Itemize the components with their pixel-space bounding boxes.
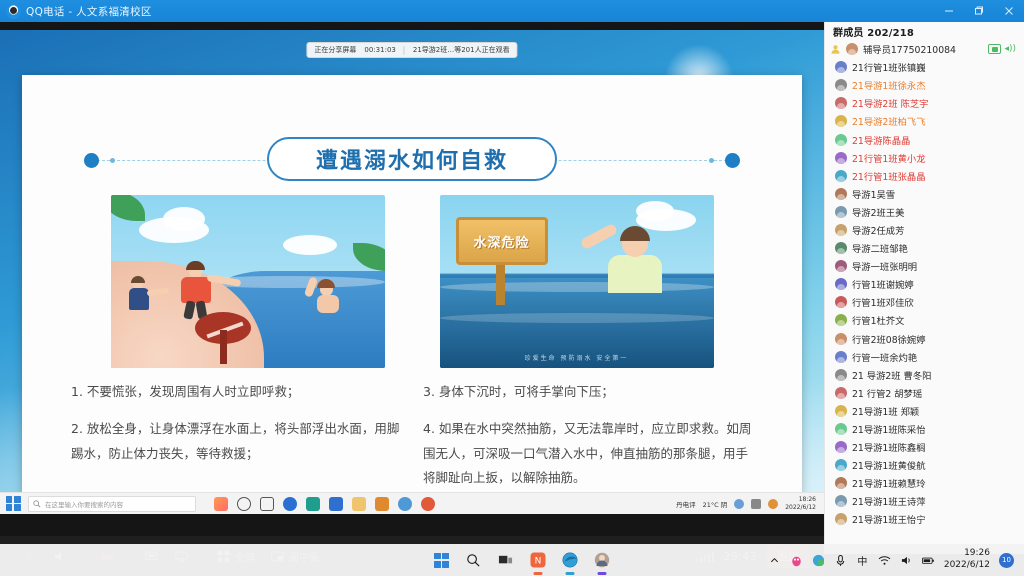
slide-point-3: 3. 身体下沉时，可将手掌向下压； [423,380,753,404]
wifi-icon[interactable] [734,499,744,509]
member-name: 21导游1班王怡宁 [852,512,926,526]
member-list-item[interactable]: 辅导员17750210084◂)) [825,40,1024,58]
member-list-item[interactable]: 行管1杜芥文 [825,311,1024,329]
member-list-item[interactable]: 21导游1班徐永杰 [825,76,1024,94]
illustration-caption: 珍爱生命 预防溺水 安全第一 [440,353,714,362]
member-list-item[interactable]: 导游1吴雪 [825,185,1024,203]
member-list-item[interactable]: 21导游1班赖慧玲 [825,474,1024,492]
member-name: 行管一班余灼艳 [852,350,917,364]
host-crown-icon [829,43,841,55]
avatar [835,314,847,326]
member-name: 21导游1班陈采怡 [852,422,926,436]
browser-icon[interactable] [398,497,412,511]
microphone-icon[interactable] [834,554,847,567]
member-name: 21导游1班黄俊航 [852,458,926,472]
member-name: 21导游1班徐永杰 [852,78,926,92]
slide-images: 水深危险 珍爱生命 预防溺水 安全第一 [22,195,802,368]
member-name: 21导游1班 郑颖 [852,404,919,418]
avatar [835,188,847,200]
avatar [846,43,858,55]
avatar [835,97,847,109]
slide-decor-dot-small-right [709,158,714,163]
member-list-item[interactable]: 21导游2班 陈芝宇 [825,94,1024,112]
avatar [835,206,847,218]
avatar [835,513,847,525]
taskbar-app-group: N [432,551,611,570]
windows-start-icon[interactable] [0,496,26,511]
avatar [835,79,847,91]
avatar [835,495,847,507]
member-name: 21导游1班王诗萍 [852,494,926,508]
clock-date: 2022/6/12 [785,504,816,512]
search-placeholder: 在这里输入你要搜索的内容 [45,499,123,509]
host-windows-taskbar: N 中 [0,544,1024,576]
member-name: 21行管1班张晶晶 [852,169,926,183]
member-name: 导游2班王美 [852,205,904,219]
avatar [835,242,847,254]
minimize-button[interactable] [934,0,964,22]
avatar [835,152,847,164]
member-name: 导游二班邹艳 [852,241,908,255]
office-icon[interactable] [375,497,389,511]
warning-board-text: 水深危险 [473,232,529,251]
danger-sign-illustration: 水深危险 珍爱生命 预防溺水 安全第一 [440,195,714,368]
slide-decor-dot-left [84,153,99,168]
member-list-item[interactable]: 21 行管2 胡梦瑶 [825,384,1024,402]
qq-call-window: QQ电话 - 人文系褔清校区 正在分享屏幕 00:31:03 21导游2班…等2… [0,0,1024,576]
svg-text:N: N [534,557,541,567]
member-list-item[interactable]: 行管1班邓佳欣 [825,293,1024,311]
battery-icon[interactable] [922,554,935,567]
speaking-icon: ◂)) [1004,45,1016,54]
chevron-up-icon[interactable] [768,554,781,567]
shared-taskbar-apps [214,497,435,511]
member-name: 行管1班谢婉婷 [852,277,914,291]
share-duration: 00:31:03 [364,46,395,54]
video-stage: 正在分享屏幕 00:31:03 21导游2班…等201人正在观看 遭遇溺水如何自… [0,22,824,576]
divider [404,46,405,55]
member-list-item[interactable]: 行管一班余灼艳 [825,348,1024,366]
shared-screen-view[interactable]: 正在分享屏幕 00:31:03 21导游2班…等201人正在观看 遭遇溺水如何自… [0,30,824,514]
share-viewers: 21导游2班…等201人正在观看 [413,45,510,55]
slide-point-4: 4. 如果在水中突然抽筋，又无法靠岸时，应立即求救。如周围无人，可深吸一口气潜入… [423,417,753,490]
member-list-item[interactable]: 导游2任成芳 [825,221,1024,239]
member-list-item[interactable]: 21行管1班张晶晶 [825,167,1024,185]
warning-board: 水深危险 [456,217,548,265]
close-button[interactable] [994,0,1024,22]
maximize-button[interactable] [964,0,994,22]
member-list-item[interactable]: 21导游1班黄俊航 [825,456,1024,474]
share-status-label: 正在分享屏幕 [314,45,356,55]
search-icon[interactable] [464,551,483,570]
windows-11-start-icon[interactable] [432,551,451,570]
ime-chinese-icon[interactable]: 中 [856,554,869,567]
member-list[interactable]: 辅导员17750210084◂))21行管1班张镇巍21导游1班徐永杰21导游2… [825,40,1024,529]
sign-post [496,263,505,305]
raised-arm [579,223,618,251]
member-list-item[interactable]: 21导游1班 郑颖 [825,402,1024,420]
qq-penguin-icon[interactable] [790,554,803,567]
avatar [835,369,847,381]
avatar [835,134,847,146]
avatar [835,224,847,236]
clock-time: 18:26 [785,496,816,504]
tray-app-label: 丹电评 [676,499,696,509]
avatar [835,61,847,73]
member-count-header: 群成员 202/218 [825,22,1024,40]
slide-title-container: 遭遇溺水如何自救 [267,137,557,181]
member-list-item[interactable]: 导游一班张明明 [825,257,1024,275]
member-list-item[interactable]: 21行管1班黄小龙 [825,149,1024,167]
beach-rescue-illustration [111,195,385,368]
qq-penguin-icon[interactable] [768,499,778,509]
avatar [835,170,847,182]
avatar [835,296,847,308]
clock[interactable]: 19:26 2022/6/12 [944,548,990,571]
member-name: 21导游1班赖慧玲 [852,476,926,490]
mail-icon[interactable] [306,497,320,511]
weather-status: 21°C 阴 [703,499,728,509]
notification-badge[interactable]: 10 [999,553,1014,568]
share-status-bar: 正在分享屏幕 00:31:03 21导游2班…等201人正在观看 [306,42,517,58]
antivirus-icon[interactable] [812,554,825,567]
qq-penguin-icon [6,4,21,19]
slide-body: 1. 不要慌张，发现周围有人时立即呼救； 2. 放松全身，让身体漂浮在水面上，将… [22,380,802,491]
slide-decor-dot-right [725,153,740,168]
wifi-icon[interactable] [878,554,891,567]
presentation-slide: 遭遇溺水如何自救 [22,75,802,495]
notes-icon[interactable] [352,497,366,511]
avatar [835,405,847,417]
search-input[interactable]: 在这里输入你要搜索的内容 [28,496,196,512]
shared-windows-taskbar: 在这里输入你要搜索的内容 丹电评 21°C 阴 [0,492,824,514]
avatar [835,333,847,345]
avatar [835,115,847,127]
slide-left-column: 1. 不要慌张，发现周围有人时立即呼救； 2. 放松全身，让身体漂浮在水面上，将… [71,380,401,491]
slide-point-1: 1. 不要慌张，发现周围有人时立即呼救； [71,380,401,404]
member-name: 行管2班08徐婉婷 [852,332,926,346]
avatar [835,278,847,290]
member-sidebar[interactable]: 群成员 202/218 辅导员17750210084◂))21行管1班张镇巍21… [824,22,1024,554]
member-list-item[interactable]: 21导游1班陈鑫榈 [825,438,1024,456]
member-name: 辅导员17750210084 [863,42,956,56]
member-name: 导游2任成芳 [852,223,904,237]
volume-icon[interactable] [900,554,913,567]
window-titlebar: QQ电话 - 人文系褔清校区 [0,0,1024,22]
volume-icon[interactable] [751,499,761,509]
member-name: 21行管1班黄小龙 [852,151,926,165]
slide-point-2: 2. 放松全身，让身体漂浮在水面上，将头部浮出水面，用脚踢水，防止体力丧失，等待… [71,417,401,466]
member-name: 21导游2班 陈芝宇 [852,96,928,110]
edge-browser-icon[interactable] [560,551,579,570]
member-name: 导游一班张明明 [852,259,917,273]
store-icon[interactable] [260,497,274,511]
teams-icon[interactable] [283,497,297,511]
cortana-icon[interactable] [237,497,251,511]
slide-decor-dot-small-left [110,158,115,163]
avatar [835,351,847,363]
member-list-item[interactable]: 21导游1班王诗萍 [825,492,1024,510]
task-view-icon[interactable] [214,497,228,511]
member-name: 行管1杜芥文 [852,313,904,327]
member-name: 21行管1班张镇巍 [852,60,926,74]
file-explorer-icon[interactable] [329,497,343,511]
person-body [608,255,662,293]
member-list-item[interactable]: 21导游1班王怡宁 [825,510,1024,528]
member-list-item[interactable]: 21 导游2班 曹冬阳 [825,366,1024,384]
avatar [835,423,847,435]
clock[interactable]: 18:26 2022/6/12 [785,496,816,511]
avatar [835,477,847,489]
member-name: 行管1班邓佳欣 [852,295,914,309]
host-system-tray: 中 19:26 2022/6/12 10 [768,548,1024,571]
member-list-item[interactable]: 导游2班王美 [825,203,1024,221]
member-list-item[interactable]: 21导游2班柏飞飞 [825,112,1024,130]
member-name: 21导游1班陈鑫榈 [852,440,926,454]
member-name: 21 行管2 胡梦瑶 [852,386,922,400]
user-avatar-icon[interactable] [592,551,611,570]
notepad-app-icon[interactable]: N [528,551,547,570]
avatar [835,441,847,453]
member-list-item[interactable]: 21导游陈晶晶 [825,130,1024,148]
clock-time: 19:26 [944,548,990,560]
media-icon[interactable] [421,497,435,511]
shared-taskbar-tray: 丹电评 21°C 阴 18:26 2022/6/12 [676,496,824,511]
member-list-item[interactable]: 行管1班谢婉婷 [825,275,1024,293]
clock-date: 2022/6/12 [944,560,990,572]
slide-right-column: 3. 身体下沉时，可将手掌向下压； 4. 如果在水中突然抽筋，又无法靠岸时，应立… [423,380,753,491]
slide-title: 遭遇溺水如何自救 [316,143,508,175]
member-name: 21 导游2班 曹冬阳 [852,368,931,382]
member-status-tags: ◂)) [988,44,1016,54]
member-name: 21导游陈晶晶 [852,133,910,147]
member-name: 导游1吴雪 [852,187,895,201]
window-controls [934,0,1024,22]
task-view-icon[interactable] [496,551,515,570]
avatar [835,260,847,272]
screen-sharing-icon [988,44,1001,54]
search-icon [33,500,41,508]
member-name: 21导游2班柏飞飞 [852,114,926,128]
window-title: QQ电话 - 人文系褔清校区 [26,4,152,19]
member-list-item[interactable]: 行管2班08徐婉婷 [825,330,1024,348]
member-list-item[interactable]: 导游二班邹艳 [825,239,1024,257]
avatar [835,459,847,471]
avatar [835,387,847,399]
person-hair [620,226,650,241]
member-list-item[interactable]: 21行管1班张镇巍 [825,58,1024,76]
member-list-item[interactable]: 21导游1班陈采怡 [825,420,1024,438]
